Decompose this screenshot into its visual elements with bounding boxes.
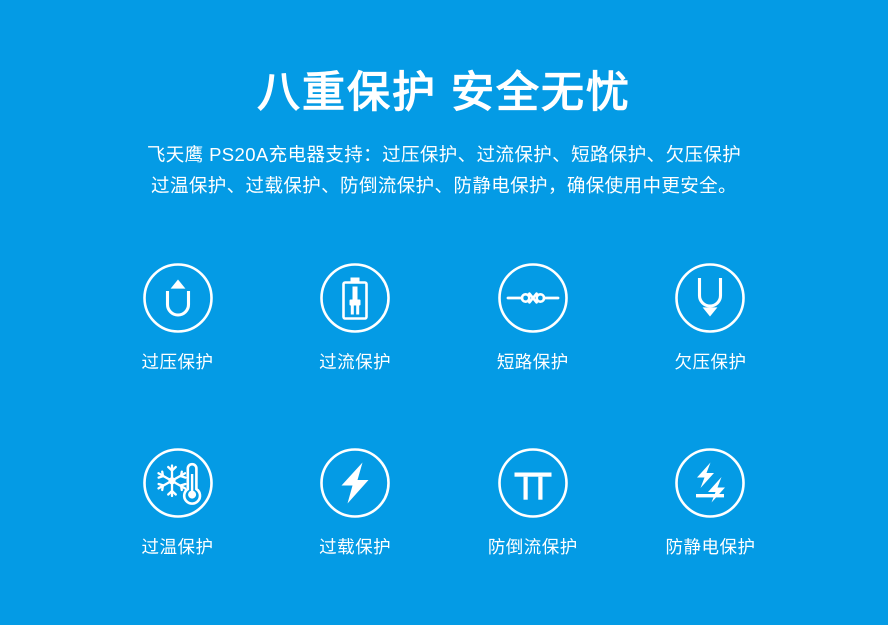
subtitle-line-1: 飞天鹰 PS20A充电器支持：过压保护、过流保护、短路保护、欠压保护 [0, 139, 888, 170]
feature-item-over-temperature: 过温保护 [89, 447, 266, 558]
feature-label: 过温保护 [142, 536, 214, 558]
subtitle-line-2: 过温保护、过载保护、防倒流保护、防静电保护，确保使用中更安全。 [0, 170, 888, 201]
feature-item-undervoltage: 欠压保护 [622, 262, 799, 373]
protection-feature-poster: 八重保护 安全无忧 飞天鹰 PS20A充电器支持：过压保护、过流保护、短路保护、… [0, 0, 888, 625]
short-circuit-icon [497, 262, 569, 334]
overload-bolt-icon [319, 447, 391, 519]
feature-label: 欠压保护 [674, 351, 746, 373]
anti-backflow-icon [497, 447, 569, 519]
over-temperature-icon [142, 447, 214, 519]
feature-item-overvoltage: 过压保护 [89, 262, 266, 373]
page-subtitle: 飞天鹰 PS20A充电器支持：过压保护、过流保护、短路保护、欠压保护 过温保护、… [0, 139, 888, 201]
feature-row-2: 过温保护 过载保护 [89, 447, 799, 558]
feature-label: 防静电保护 [665, 536, 755, 558]
overvoltage-icon [142, 262, 214, 334]
feature-item-overload: 过载保护 [267, 447, 444, 558]
undervoltage-icon [674, 262, 746, 334]
feature-label: 防倒流保护 [488, 536, 578, 558]
feature-item-short-circuit: 短路保护 [444, 262, 621, 373]
feature-label: 过载保护 [319, 536, 391, 558]
feature-label: 短路保护 [497, 351, 569, 373]
overcurrent-battery-icon [319, 262, 391, 334]
feature-item-overcurrent: 过流保护 [267, 262, 444, 373]
protection-feature-grid: 过压保护 过流保护 [89, 262, 799, 558]
feature-label: 过流保护 [319, 351, 391, 373]
page-title: 八重保护 安全无忧 [0, 63, 888, 123]
feature-row-1: 过压保护 过流保护 [89, 262, 799, 373]
anti-static-icon [674, 447, 746, 519]
feature-label: 过压保护 [142, 351, 214, 373]
feature-item-anti-backflow: 防倒流保护 [444, 447, 621, 558]
feature-item-anti-static: 防静电保护 [622, 447, 799, 558]
